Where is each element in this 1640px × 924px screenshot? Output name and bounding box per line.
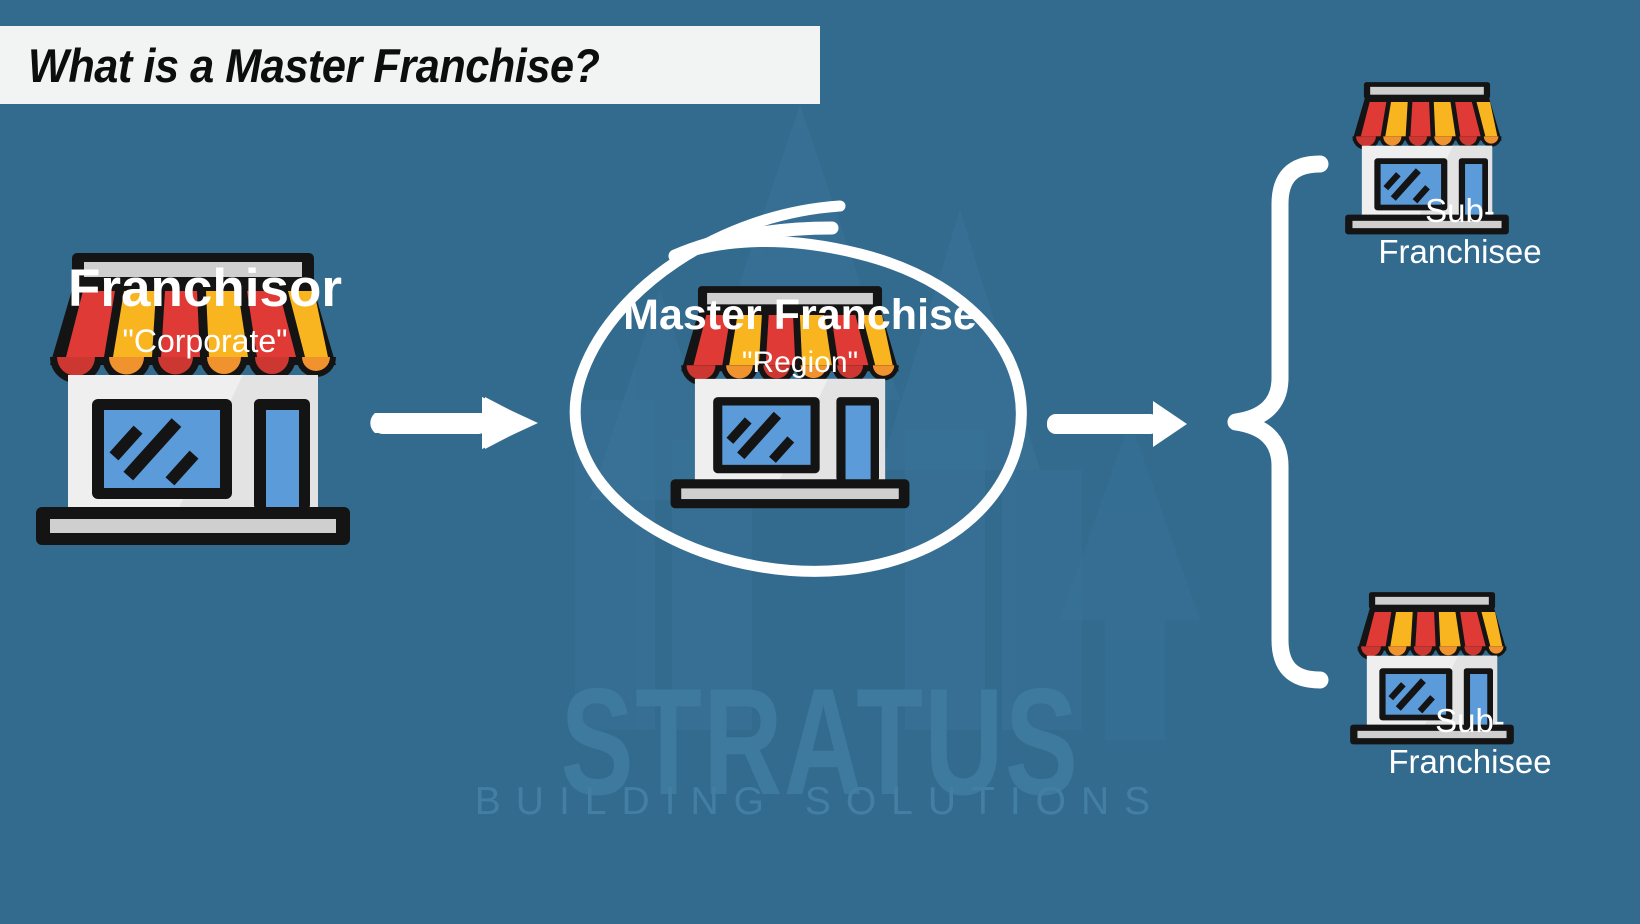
node-franchisor: Franchisor "Corporate" <box>10 240 400 360</box>
node-master-franchise: Master Franchise "Region" <box>560 275 1040 380</box>
watermark-tagline-text: BUILDING SOLUTIONS <box>0 780 1640 824</box>
infographic-canvas: STRATUS BUILDING SOLUTIONS What is a Mas… <box>0 0 1640 924</box>
node-sub-franchisee-1-line2: Franchisee <box>1330 231 1590 272</box>
node-sub-franchisee-2: Sub- Franchisee <box>1340 690 1600 783</box>
node-franchisor-title: Franchisor <box>10 258 400 319</box>
title-banner: What is a Master Franchise? <box>0 26 820 104</box>
node-master-franchise-title: Master Franchise <box>560 291 1040 340</box>
node-master-franchise-subtitle: "Region" <box>560 346 1040 380</box>
node-franchisor-subtitle: "Corporate" <box>10 323 400 360</box>
page-title: What is a Master Franchise? <box>28 38 599 93</box>
node-sub-franchisee-2-line1: Sub- <box>1340 700 1600 741</box>
node-sub-franchisee-2-line2: Franchisee <box>1340 741 1600 782</box>
curly-brace-icon <box>1200 150 1335 695</box>
arrow-right-icon-1 <box>370 395 545 453</box>
arrow-right-icon-2 <box>1045 400 1190 448</box>
node-sub-franchisee-1: Sub- Franchisee <box>1330 180 1590 273</box>
node-sub-franchisee-1-line1: Sub- <box>1330 190 1590 231</box>
